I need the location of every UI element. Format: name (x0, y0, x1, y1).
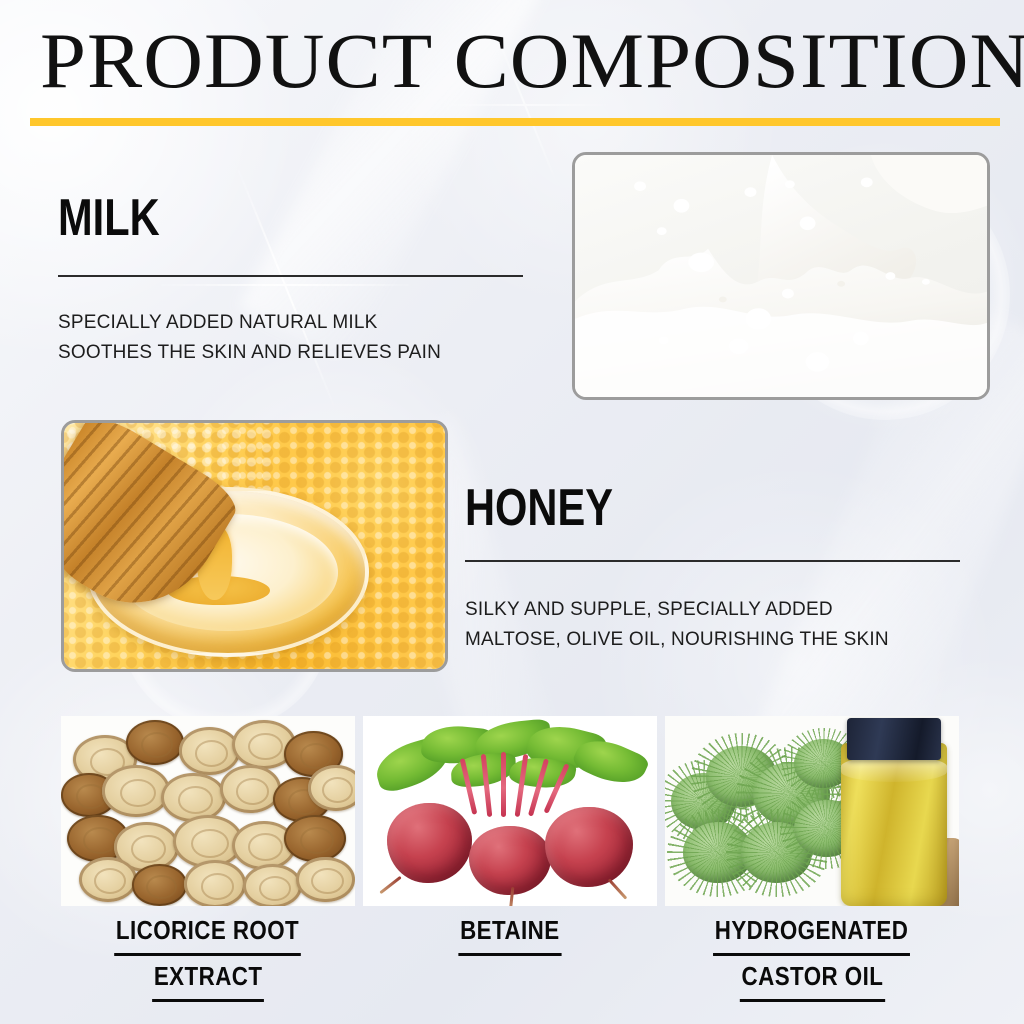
honey-bowl-illustration (64, 423, 445, 669)
caption-line: EXTRACT (152, 956, 264, 1002)
page-title: PRODUCT COMPOSITION (40, 18, 1024, 104)
section-heading-milk: MILK (58, 188, 160, 248)
section-body-line: SOOTHES THE SKIN AND RELIEVES PAIN (58, 338, 441, 368)
oil-bottle (841, 743, 947, 906)
licorice-slices-illustration (61, 716, 355, 906)
ingredient-caption-castor: HYDROGENATED CASTOR OIL (665, 910, 959, 1002)
caption-line: HYDROGENATED (713, 910, 910, 956)
sparkle-icon (150, 150, 420, 420)
section-body-honey: SILKY AND SUPPLE, SPECIALLY ADDED MALTOS… (465, 595, 889, 655)
section-divider-honey (465, 560, 960, 562)
section-body-milk: SPECIALLY ADDED NATURAL MILK SOOTHES THE… (58, 308, 441, 368)
section-body-line: SILKY AND SUPPLE, SPECIALLY ADDED (465, 595, 889, 625)
milk-image-panel (572, 152, 990, 400)
caption-line: LICORICE ROOT (115, 910, 302, 956)
caption-line: CASTOR OIL (739, 956, 884, 1002)
product-composition-poster: PRODUCT COMPOSITION MILK SPECIALLY ADDED… (0, 0, 1024, 1024)
ingredient-caption-licorice: LICORICE ROOT EXTRACT (61, 910, 355, 1002)
honey-image-panel (61, 420, 448, 672)
ingredient-caption-betaine: BETAINE (363, 910, 657, 956)
section-divider-milk (58, 275, 523, 277)
beetroot-illustration (363, 716, 657, 906)
bottle-cap (847, 718, 941, 760)
title-accent-bar (30, 118, 1000, 126)
castor-oil-image-panel (665, 716, 959, 906)
section-body-line: MALTOSE, OLIVE OIL, NOURISHING THE SKIN (465, 625, 889, 655)
section-heading-honey: HONEY (465, 478, 613, 538)
betaine-image-panel (363, 716, 657, 906)
castor-beans-oil-illustration (665, 716, 959, 906)
milk-splash-illustration (575, 155, 987, 397)
licorice-image-panel (61, 716, 355, 906)
caption-line: BETAINE (459, 910, 562, 956)
section-body-line: SPECIALLY ADDED NATURAL MILK (58, 308, 441, 338)
